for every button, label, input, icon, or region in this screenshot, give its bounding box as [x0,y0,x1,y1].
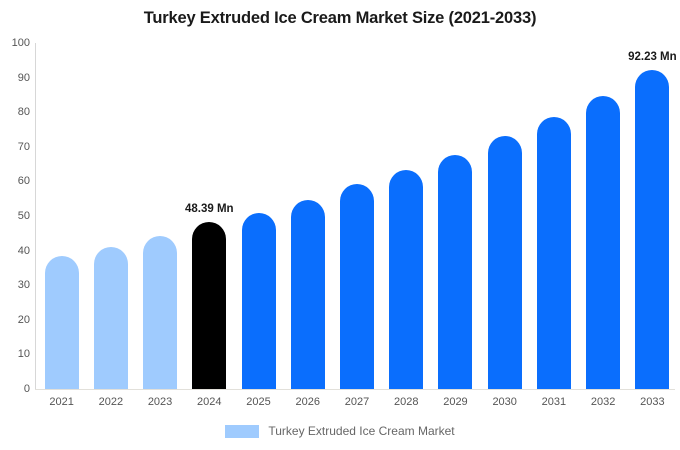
bar-group: 48.39 Mn [192,43,226,389]
bar-2021[interactable] [45,256,79,389]
bar-value-label-2033: 92.23 Mn [628,51,677,63]
bar-2032[interactable] [586,96,620,389]
bar-2031[interactable] [537,117,571,389]
bar-2024[interactable] [192,222,226,389]
x-axis-tick-label: 2030 [481,396,529,408]
x-axis: 2021202220232024202520262027202820292030… [35,396,675,416]
x-axis-tick-label: 2032 [579,396,627,408]
x-axis-tick-label: 2031 [530,396,578,408]
bar-group [291,43,325,389]
y-axis-tick-label: 60 [0,175,30,187]
chart-legend: Turkey Extruded Ice Cream Market [0,424,680,438]
bar-2033[interactable] [635,70,669,389]
y-axis-tick-label: 80 [0,106,30,118]
bar-group [242,43,276,389]
x-axis-tick-label: 2022 [87,396,135,408]
x-axis-tick-label: 2021 [38,396,86,408]
y-axis-tick-label: 10 [0,348,30,360]
bar-group [340,43,374,389]
bar-group [586,43,620,389]
bar-value-label-2024: 48.39 Mn [185,203,234,215]
y-axis-tick-label: 100 [0,37,30,49]
bar-2029[interactable] [438,155,472,389]
plot-area: 48.39 Mn92.23 Mn [35,43,675,389]
x-axis-tick-label: 2028 [382,396,430,408]
x-axis-line [35,389,675,390]
bar-2028[interactable] [389,170,423,389]
x-axis-tick-label: 2024 [185,396,233,408]
y-axis-tick-label: 90 [0,72,30,84]
y-axis: 0102030405060708090100 [0,43,30,389]
bar-group [488,43,522,389]
legend-swatch-icon [225,425,259,438]
x-axis-tick-label: 2026 [284,396,332,408]
bar-group [45,43,79,389]
bar-2023[interactable] [143,236,177,389]
x-axis-tick-label: 2033 [628,396,676,408]
bar-group [438,43,472,389]
y-axis-tick-label: 0 [0,383,30,395]
bar-2027[interactable] [340,184,374,389]
y-axis-tick-label: 20 [0,314,30,326]
y-axis-tick-label: 30 [0,279,30,291]
bar-group [143,43,177,389]
bar-2030[interactable] [488,136,522,389]
bar-2025[interactable] [242,213,276,389]
x-axis-tick-label: 2023 [136,396,184,408]
bar-chart: Turkey Extruded Ice Cream Market Size (2… [0,0,680,450]
y-axis-tick-label: 50 [0,210,30,222]
bar-2022[interactable] [94,247,128,389]
bar-group: 92.23 Mn [635,43,669,389]
bar-2026[interactable] [291,200,325,389]
y-axis-tick-label: 40 [0,245,30,257]
bar-group [389,43,423,389]
chart-title: Turkey Extruded Ice Cream Market Size (2… [0,9,680,28]
legend-label: Turkey Extruded Ice Cream Market [268,424,454,438]
bar-group [537,43,571,389]
y-axis-tick-label: 70 [0,141,30,153]
bar-group [94,43,128,389]
x-axis-tick-label: 2027 [333,396,381,408]
x-axis-tick-label: 2029 [431,396,479,408]
x-axis-tick-label: 2025 [235,396,283,408]
